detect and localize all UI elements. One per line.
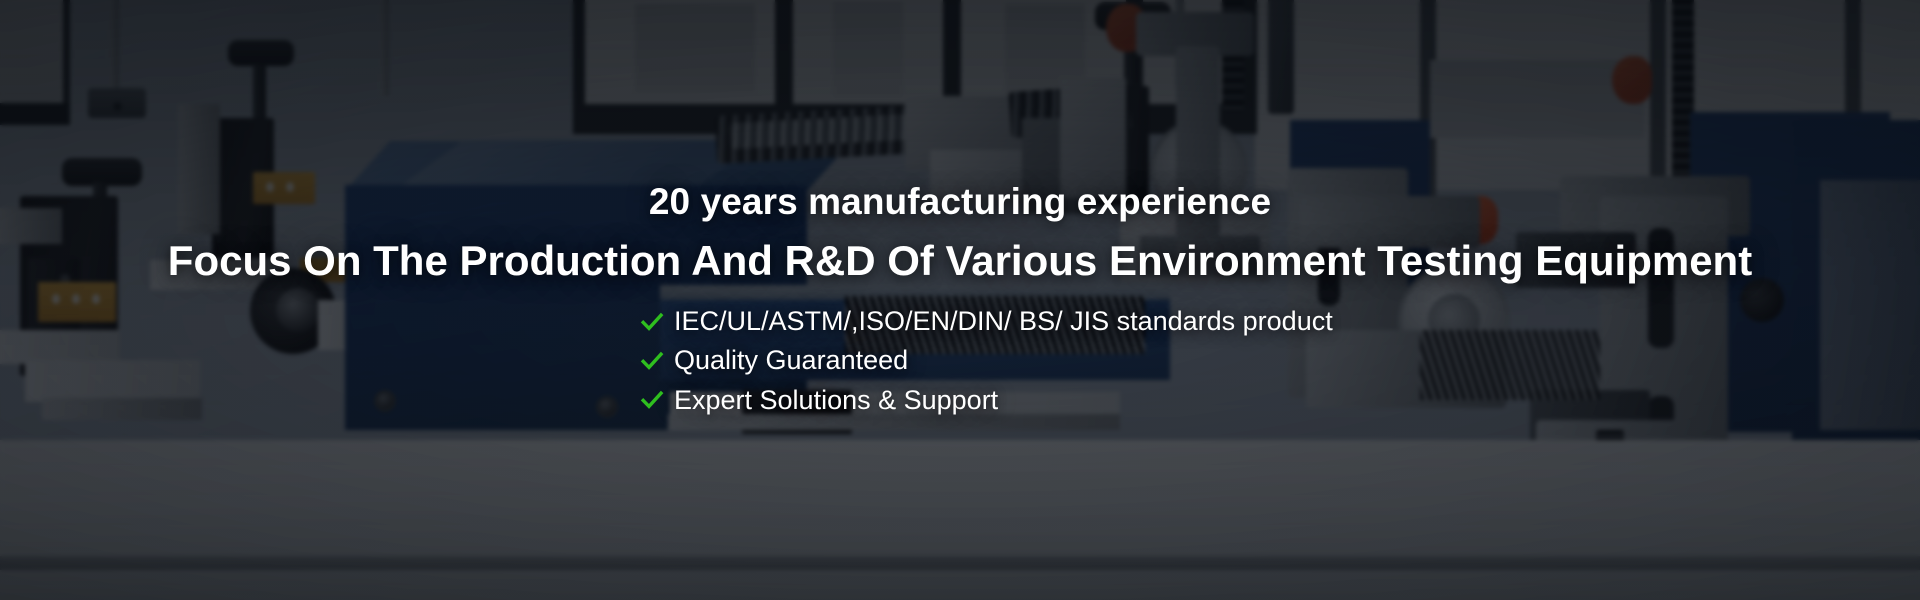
feature-label: Expert Solutions & Support (674, 382, 998, 419)
hero-eyebrow: 20 years manufacturing experience (649, 183, 1271, 222)
feature-item: Quality Guaranteed (640, 342, 908, 379)
feature-list: IEC/UL/ASTM/,ISO/EN/DIN/ BS/ JIS standar… (0, 303, 1920, 421)
feature-item: IEC/UL/ASTM/,ISO/EN/DIN/ BS/ JIS standar… (640, 303, 1333, 340)
feature-item: Expert Solutions & Support (640, 382, 998, 419)
hero-content: 20 years manufacturing experience Focus … (0, 0, 1920, 600)
feature-label: IEC/UL/ASTM/,ISO/EN/DIN/ BS/ JIS standar… (674, 303, 1333, 340)
feature-label: Quality Guaranteed (674, 342, 908, 379)
check-icon (640, 349, 664, 373)
check-icon (640, 388, 664, 412)
check-icon (640, 310, 664, 334)
hero-banner: 20 years manufacturing experience Focus … (0, 0, 1920, 600)
hero-headline: Focus On The Production And R&D Of Vario… (168, 238, 1752, 283)
